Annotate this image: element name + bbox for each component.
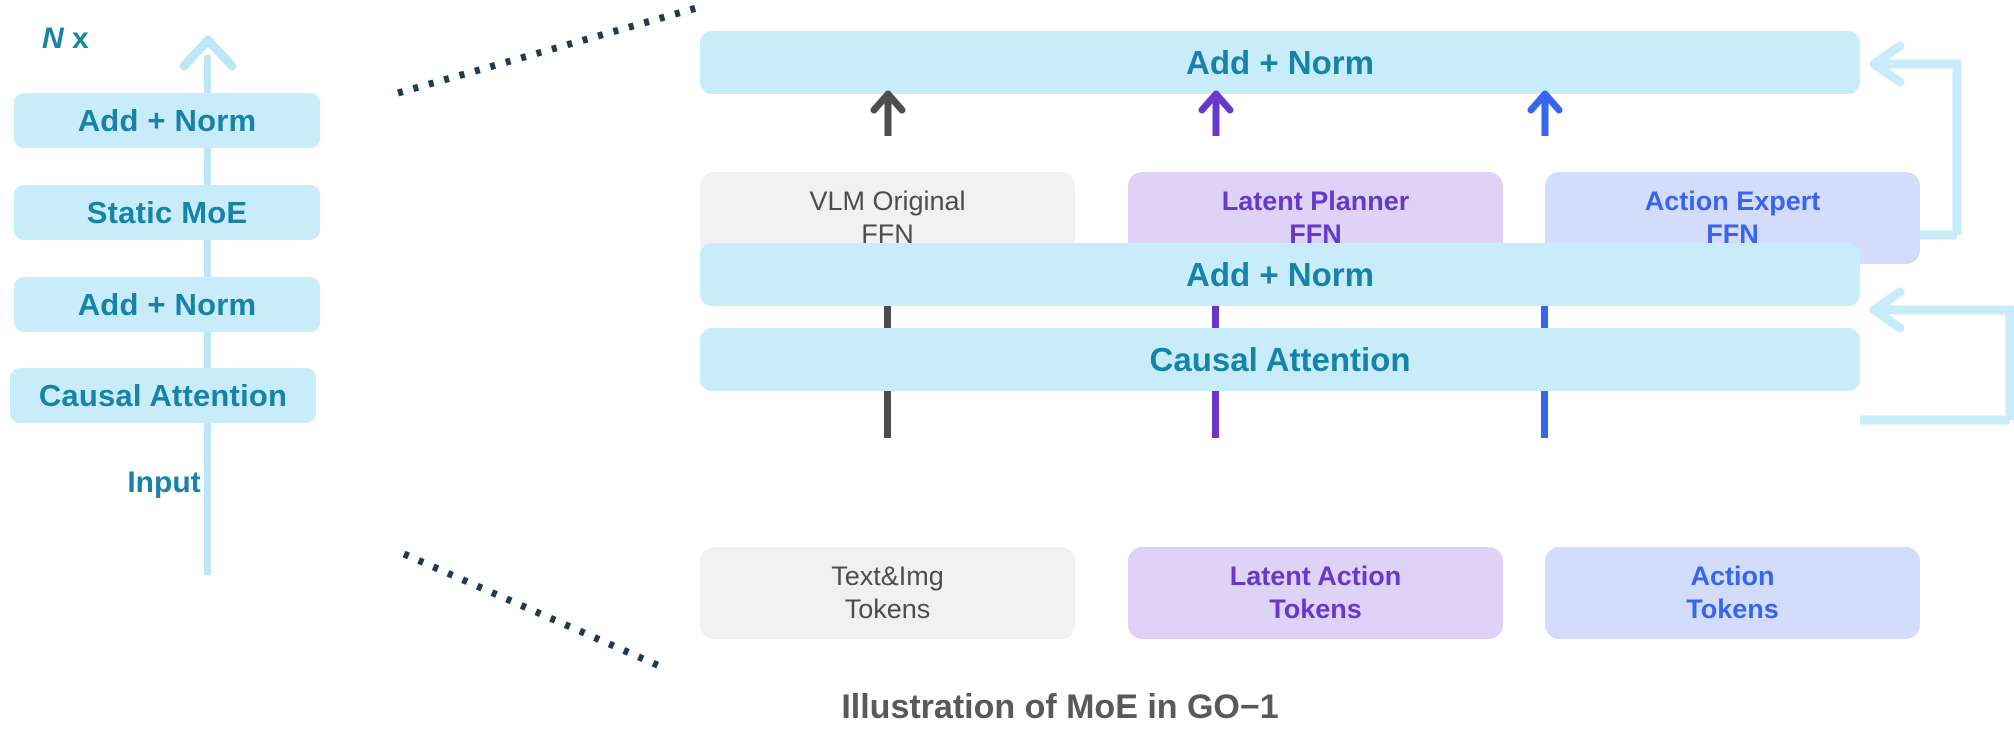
token-label-line1: Action [1691, 560, 1775, 593]
right-panel: Add + Norm VLM Original FFN Latent Plann… [0, 0, 2014, 700]
caption-wrap: Illustration of MoE in GO−1 [560, 688, 1560, 727]
token-label-line1: Latent Action [1230, 560, 1402, 593]
ffn-to-addnorm-arrows [700, 88, 1860, 136]
token-label-line1: Text&Img [831, 560, 944, 593]
figure-caption: Illustration of MoE in GO−1 [560, 688, 1560, 727]
causal-attention-label: Causal Attention [1150, 341, 1411, 379]
connector-tokens-to-attention-latent [1212, 391, 1219, 438]
top-add-norm-bar[interactable]: Add + Norm [700, 31, 1860, 94]
token-label-line2: Tokens [1269, 593, 1362, 626]
connector-tokens-to-attention-action [1541, 391, 1548, 438]
token-text-img[interactable]: Text&Img Tokens [700, 547, 1075, 639]
token-label-line2: Tokens [845, 593, 931, 626]
connector-tokens-to-attention-vlm [884, 391, 891, 438]
token-action[interactable]: Action Tokens [1545, 547, 1920, 639]
moe-architecture-figure: N x Add + Norm Static MoE Add + Norm Cau… [0, 0, 2014, 748]
token-latent-action[interactable]: Latent Action Tokens [1128, 547, 1503, 639]
token-label-line2: Tokens [1686, 593, 1779, 626]
causal-attention-bar[interactable]: Causal Attention [700, 328, 1860, 391]
expert-label-line1: Latent Planner [1222, 185, 1410, 218]
top-add-norm-label: Add + Norm [1186, 44, 1374, 82]
expert-label-line1: VLM Original [809, 185, 965, 218]
mid-add-norm-bar-real[interactable]: Add + Norm [700, 243, 1860, 306]
expert-label-line1: Action Expert [1645, 185, 1821, 218]
mid-add-norm-label: Add + Norm [1186, 256, 1374, 294]
